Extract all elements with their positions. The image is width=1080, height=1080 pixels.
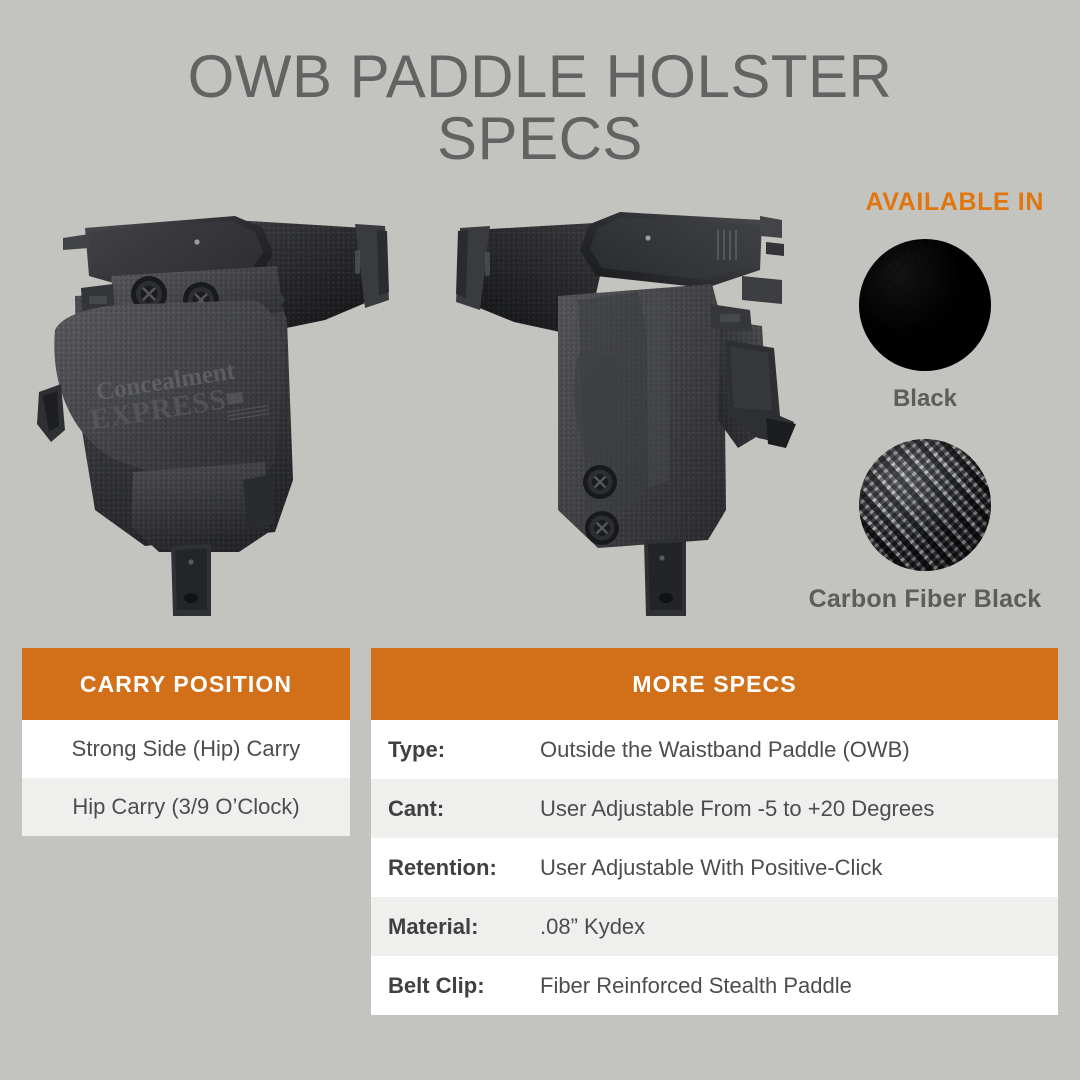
- carry-position-table: CARRY POSITION Strong Side (Hip) Carry H…: [22, 648, 350, 836]
- black-kydex-texture-swatch[interactable]: [859, 239, 991, 371]
- page-title: OWB PADDLE HOLSTER SPECS: [0, 46, 1080, 170]
- carry-position-table-header: CARRY POSITION: [22, 648, 350, 720]
- spec-label: Cant:: [388, 796, 540, 822]
- table-row: Cant: User Adjustable From -5 to +20 Deg…: [371, 779, 1058, 838]
- color-option-carbon-fiber-black[interactable]: Carbon Fiber Black: [790, 439, 1060, 614]
- retention-screw-lower: [585, 511, 619, 545]
- page-title-line-1: OWB PADDLE HOLSTER: [0, 46, 1080, 108]
- spec-value: Fiber Reinforced Stealth Paddle: [540, 973, 852, 999]
- carry-position-value: Strong Side (Hip) Carry: [72, 736, 301, 762]
- product-image-group: Concealment EXPRESS: [0, 180, 800, 630]
- spec-value: User Adjustable With Positive-Click: [540, 855, 882, 881]
- spec-value: Outside the Waistband Paddle (OWB): [540, 737, 910, 763]
- table-row: Strong Side (Hip) Carry: [22, 720, 350, 778]
- spec-label: Type:: [388, 737, 540, 763]
- carbon-fiber-black-texture-swatch[interactable]: [859, 439, 991, 571]
- color-option-black-label: Black: [790, 385, 1060, 413]
- more-specs-table: MORE SPECS Type: Outside the Waistband P…: [371, 648, 1058, 1015]
- holster-front-paddle-view-image: Concealment EXPRESS: [25, 180, 415, 620]
- holster-rear-view-image: [430, 180, 820, 620]
- color-option-black[interactable]: Black: [790, 239, 1060, 413]
- available-in-heading: AVAILABLE IN: [790, 188, 1060, 217]
- spec-label: Material:: [388, 914, 540, 940]
- available-colors-section: AVAILABLE IN Black Carbon Fiber Black: [790, 188, 1060, 614]
- table-row: Type: Outside the Waistband Paddle (OWB): [371, 720, 1058, 779]
- spec-label: Belt Clip:: [388, 973, 540, 999]
- color-option-carbon-fiber-black-label: Carbon Fiber Black: [790, 585, 1060, 614]
- table-row: Retention: User Adjustable With Positive…: [371, 838, 1058, 897]
- retention-screw-upper: [583, 465, 617, 499]
- carry-position-value: Hip Carry (3/9 O’Clock): [72, 794, 299, 820]
- page-title-line-2: SPECS: [0, 108, 1080, 170]
- spec-label: Retention:: [388, 855, 540, 881]
- spec-value: .08” Kydex: [540, 914, 645, 940]
- table-row: Belt Clip: Fiber Reinforced Stealth Padd…: [371, 956, 1058, 1015]
- table-row: Material: .08” Kydex: [371, 897, 1058, 956]
- spec-value: User Adjustable From -5 to +20 Degrees: [540, 796, 934, 822]
- more-specs-table-header: MORE SPECS: [371, 648, 1058, 720]
- table-row: Hip Carry (3/9 O’Clock): [22, 778, 350, 836]
